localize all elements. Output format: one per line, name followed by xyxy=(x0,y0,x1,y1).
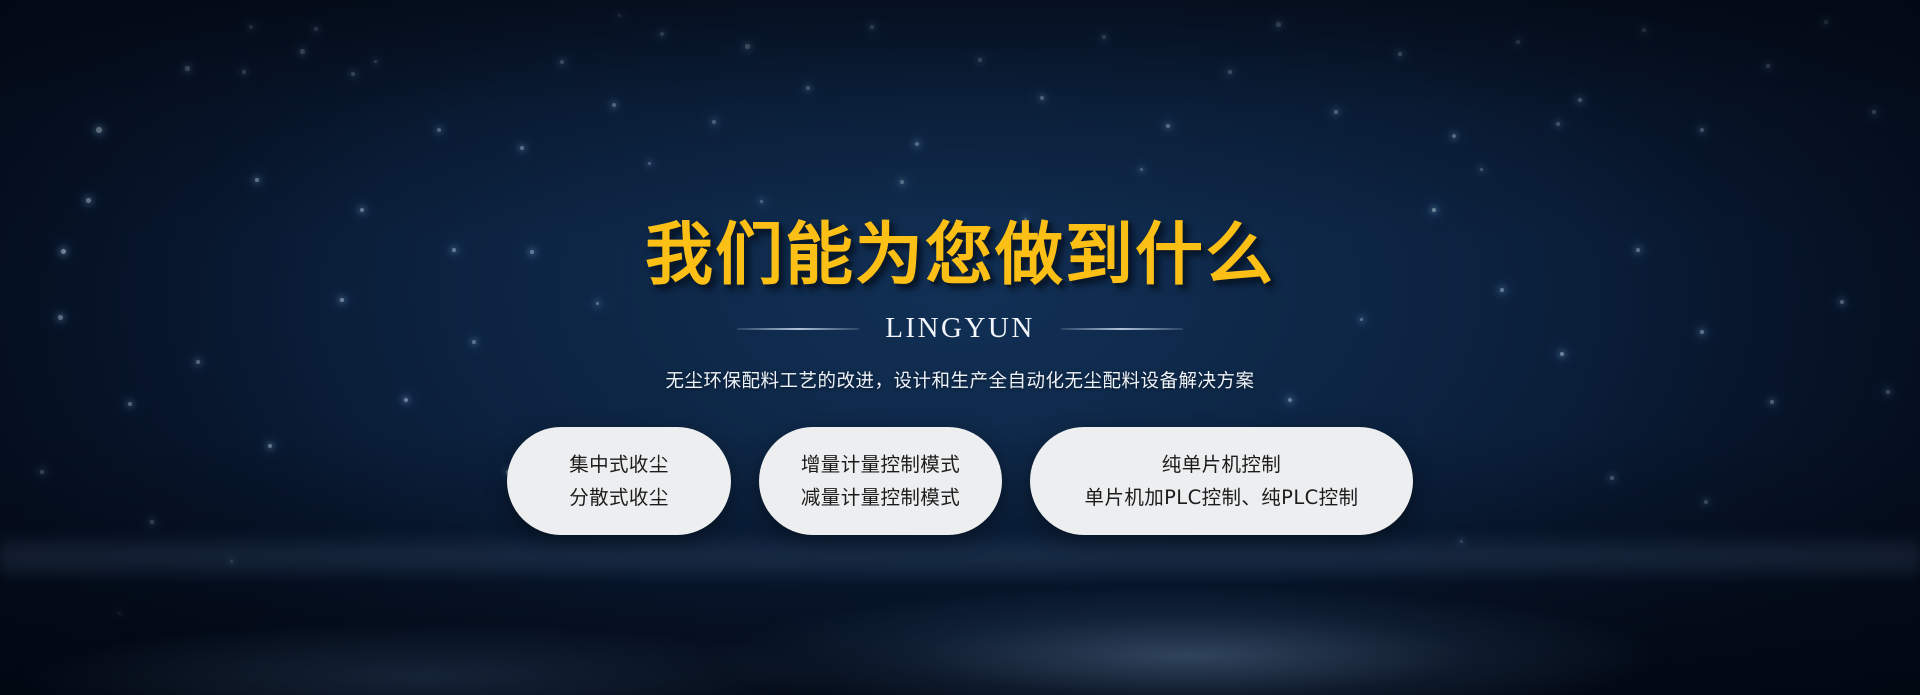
banner-content: 我们能为您做到什么 LINGYUN 无尘环保配料工艺的改进，设计和生产全自动化无… xyxy=(0,0,1920,695)
rule-right-icon xyxy=(1061,328,1183,330)
feature-pill-dust-collection[interactable]: 集中式收尘 分散式收尘 xyxy=(507,427,731,535)
feature-pill-control-system[interactable]: 纯单片机控制 单片机加PLC控制、纯PLC控制 xyxy=(1030,427,1413,535)
pill-line-secondary: 分散式收尘 xyxy=(569,488,669,508)
hero-banner: 我们能为您做到什么 LINGYUN 无尘环保配料工艺的改进，设计和生产全自动化无… xyxy=(0,0,1920,695)
pill-line-primary: 增量计量控制模式 xyxy=(801,455,960,475)
brand-subtitle: LINGYUN xyxy=(885,312,1035,345)
feature-pill-list: 集中式收尘 分散式收尘 增量计量控制模式 减量计量控制模式 纯单片机控制 单片机… xyxy=(507,427,1413,535)
pill-line-secondary: 单片机加PLC控制、纯PLC控制 xyxy=(1085,488,1359,508)
page-title: 我们能为您做到什么 xyxy=(645,222,1275,290)
pill-line-secondary: 减量计量控制模式 xyxy=(801,488,960,508)
pill-line-primary: 纯单片机控制 xyxy=(1162,455,1281,475)
pill-line-primary: 集中式收尘 xyxy=(569,455,669,475)
feature-pill-metering-mode[interactable]: 增量计量控制模式 减量计量控制模式 xyxy=(759,427,1002,535)
banner-description: 无尘环保配料工艺的改进，设计和生产全自动化无尘配料设备解决方案 xyxy=(665,367,1254,393)
brand-subtitle-row: LINGYUN xyxy=(737,312,1183,345)
rule-left-icon xyxy=(737,328,859,330)
